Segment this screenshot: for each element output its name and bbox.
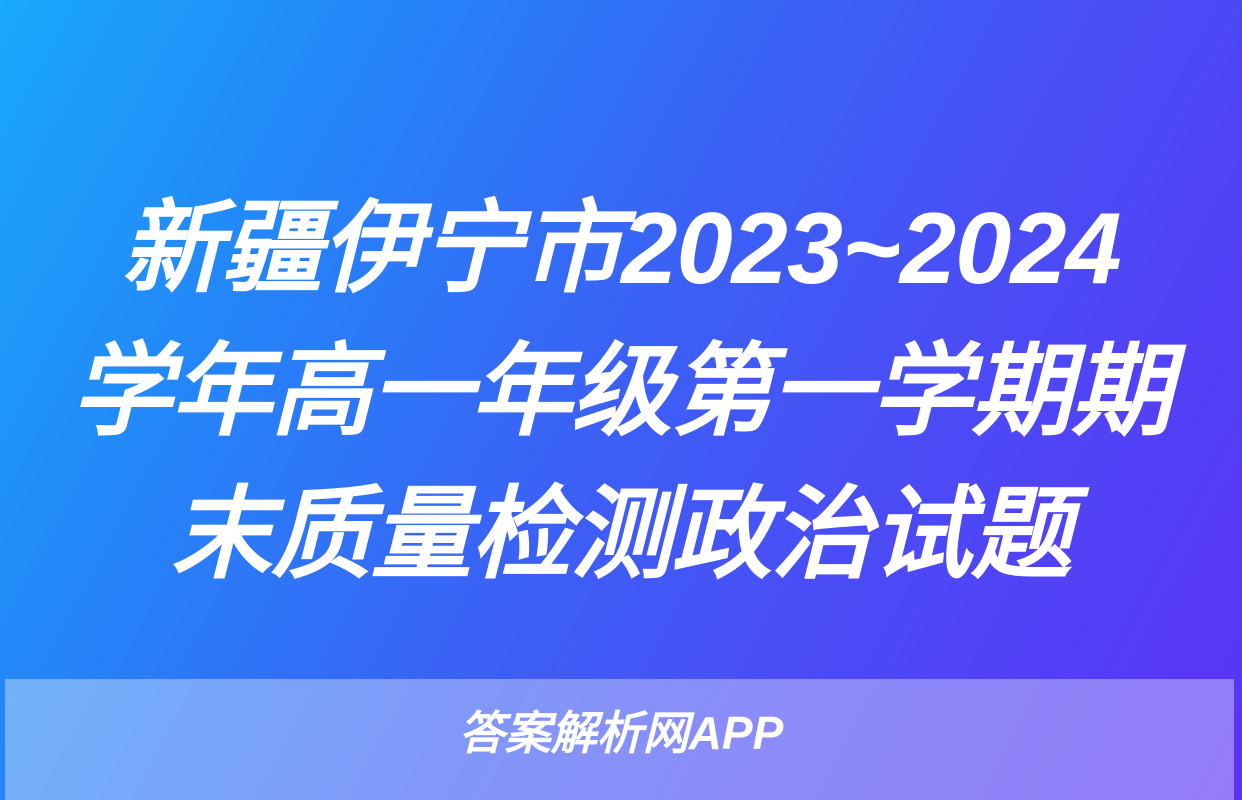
page-title: 新疆伊宁市2023~2024 学年高一年级第一学期期 末质量检测政治试题 [0, 178, 1242, 607]
exam-cover-image: 新疆伊宁市2023~2024 学年高一年级第一学期期 末质量检测政治试题 答案解… [0, 0, 1242, 800]
title-line-1: 新疆伊宁市2023~2024 [0, 178, 1242, 321]
title-line-3: 末质量检测政治试题 [0, 464, 1242, 607]
title-line-2: 学年高一年级第一学期期 [0, 321, 1242, 464]
watermark-label: 答案解析网APP [0, 702, 1242, 764]
